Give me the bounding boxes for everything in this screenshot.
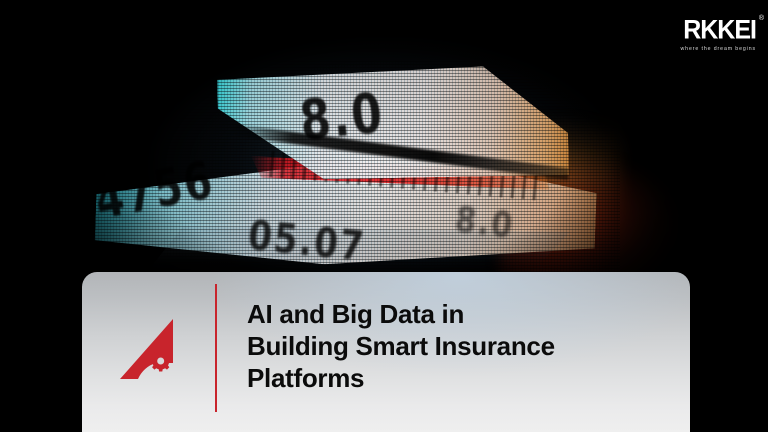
title-line-2: Building Smart Insurance — [247, 330, 667, 362]
registered-trademark-icon: ® — [759, 15, 764, 22]
title-line-1: AI and Big Data in — [247, 298, 667, 330]
logo-wordmark-text: RKKEI — [683, 15, 756, 45]
page-title: AI and Big Data in Building Smart Insura… — [247, 298, 667, 394]
title-line-3: Platforms — [247, 362, 667, 394]
red-divider — [215, 284, 217, 412]
rikkei-logo: RKKEI ® where the dream begins — [681, 18, 756, 52]
red-triangle-gear-icon — [116, 316, 182, 384]
logo-wordmark: RKKEI ® — [683, 17, 756, 44]
logo-tagline: where the dream begins — [681, 47, 756, 52]
title-card: AI and Big Data in Building Smart Insura… — [82, 272, 690, 432]
slide-canvas: 8.0 4756 05.07 8.0 RKKEI ® where the dre… — [0, 0, 768, 432]
